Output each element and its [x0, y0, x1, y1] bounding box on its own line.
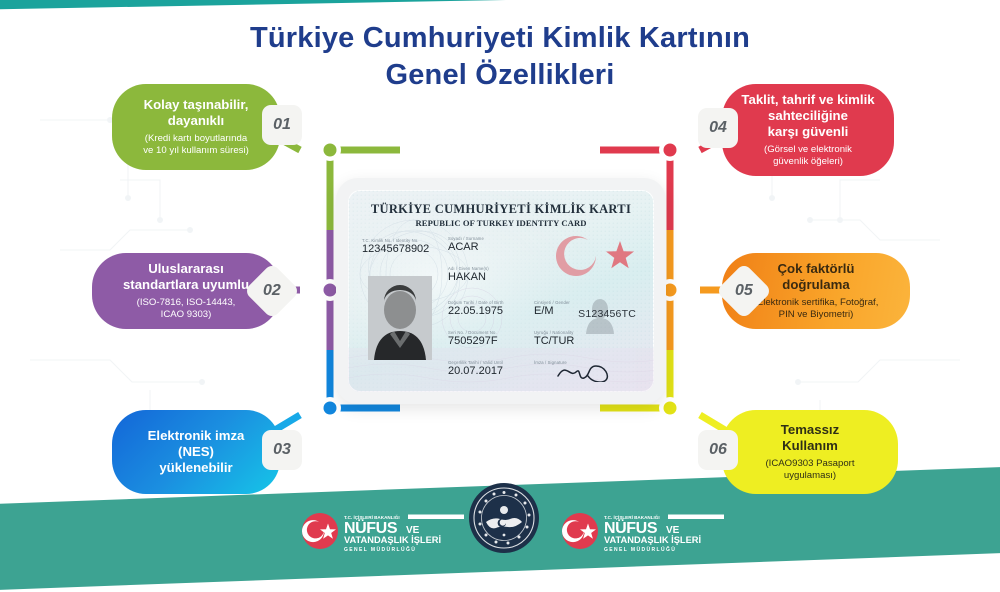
turkish-flag-emblem-icon — [562, 513, 598, 549]
id-card-mockup: TÜRKİYE CUMHURİYETİ KİMLİK KARTI REPUBLI… — [336, 178, 666, 404]
field-given-name: Adı / Given Name(s) HAKAN — [448, 266, 489, 283]
field-valid-until: Geçerlilik Tarihi / Valid Until 20.07.20… — [448, 360, 503, 377]
callout-05-subtext: (Elektronik sertifika, Fotoğraf, PIN ve … — [754, 297, 879, 321]
callout-04[interactable]: Taklit, tahrif ve kimlik sahteciliğine k… — [722, 84, 894, 176]
callout-04-subtext: (Görsel ve elektronik güvenlik öğeleri) — [764, 144, 852, 168]
callout-03[interactable]: Elektronik imza (NES) yüklenebilir — [112, 410, 280, 494]
callout-05-heading: Çok faktörlü doğrulama — [778, 261, 855, 293]
nvi-logo-right-main3: VATANDAŞLIK İŞLERİ — [604, 535, 701, 545]
infographic-canvas: Türkiye Cumhuriyeti Kimlik Kartının Gene… — [0, 0, 1000, 562]
callout-03-number: 03 — [262, 430, 302, 470]
callout-02-heading: Uluslararası standartlara uyumlu — [123, 261, 249, 293]
callout-04-number: 04 — [698, 108, 738, 148]
field-id-number: T.C. Kimlik No. / Identity No. 123456789… — [362, 238, 429, 255]
callout-03-heading: Elektronik imza (NES) yüklenebilir — [148, 428, 245, 476]
field-gender: Cinsiyeti / Gender E/M — [534, 300, 570, 317]
callout-01-subtext: (Kredi kartı boyutlarında ve 10 yıl kull… — [143, 133, 249, 157]
turkish-flag-emblem-icon — [302, 513, 338, 549]
nvi-logo-right-bottom: GENEL MÜDÜRLÜĞÜ — [604, 545, 676, 553]
card-serial-number: S123456TC — [578, 308, 636, 320]
nvi-logo-left: T.C. İÇİŞLERİ BAKANLIĞI NÜFUS VE VATANDA… — [300, 507, 470, 553]
crescent-star-icon — [552, 228, 638, 284]
nvi-logo-right-top: T.C. İÇİŞLERİ BAKANLIĞI — [604, 513, 660, 520]
nvi-logo-left-bottom: GENEL MÜDÜRLÜĞÜ — [344, 545, 416, 553]
id-card-face: TÜRKİYE CUMHURİYETİ KİMLİK KARTI REPUBLI… — [348, 190, 654, 392]
callout-06-number: 06 — [698, 430, 738, 470]
card-header: TÜRKİYE CUMHURİYETİ KİMLİK KARTI REPUBLI… — [348, 202, 654, 228]
nvi-logo-right: T.C. İÇİŞLERİ BAKANLIĞI NÜFUS VE VATANDA… — [560, 507, 730, 553]
nvi-logo-left-top: T.C. İÇİŞLERİ BAKANLIĞI — [344, 513, 400, 520]
field-birth-date: Doğum Tarihi / Date of Birth 22.05.1975 — [448, 300, 504, 317]
field-surname: Soyadı / Surname ACAR — [448, 236, 484, 253]
signature-mark — [554, 356, 630, 382]
callout-01-heading: Kolay taşınabilir, dayanıklı — [144, 97, 249, 129]
callout-01[interactable]: Kolay taşınabilir, dayanıklı (Kredi kart… — [112, 84, 280, 170]
card-title-tr: TÜRKİYE CUMHURİYETİ KİMLİK KARTI — [348, 202, 654, 217]
callout-06[interactable]: Temassız Kullanım (ICAO9303 Pasaport uyg… — [722, 410, 898, 494]
ministry-seal-icon — [468, 482, 540, 554]
callout-06-heading: Temassız Kullanım — [781, 422, 839, 454]
callout-01-number: 01 — [262, 105, 302, 145]
card-title-en: REPUBLIC OF TURKEY IDENTITY CARD — [348, 218, 654, 228]
nvi-logo-left-main3: VATANDAŞLIK İŞLERİ — [344, 535, 441, 545]
callout-06-subtext: (ICAO9303 Pasaport uygulaması) — [765, 458, 854, 482]
callout-02-subtext: (ISO-7816, ISO-14443, ICAO 9303) — [137, 297, 236, 321]
field-nationality: Uyruğu / Nationality TC/TUR — [534, 330, 574, 347]
callout-04-heading: Taklit, tahrif ve kimlik sahteciliğine k… — [741, 92, 874, 140]
field-document-number: Seri No. / Document No. 7505297F — [448, 330, 498, 347]
portrait-photo — [368, 276, 432, 360]
